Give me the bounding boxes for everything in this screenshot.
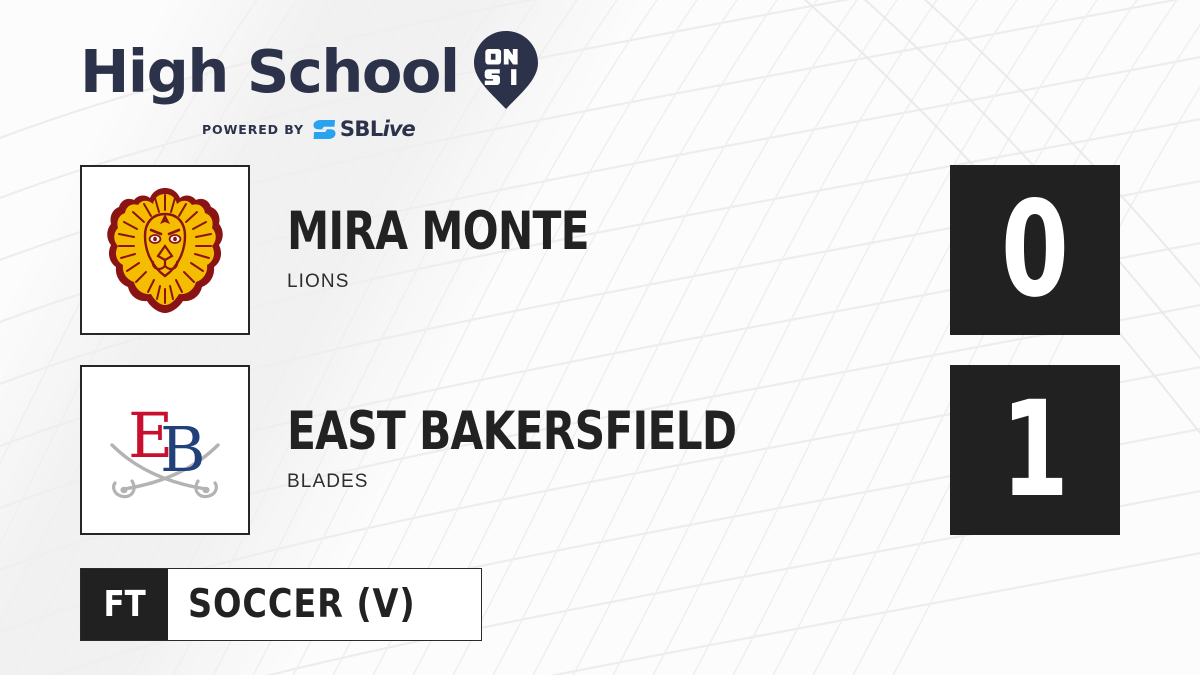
game-status-badge: FT	[81, 569, 168, 640]
team-mascot: BLADES	[287, 471, 950, 493]
sblive-wordmark: SBLive	[340, 119, 415, 140]
sport-label-container: SOCCER (V)	[168, 569, 481, 640]
score-value: 1	[1001, 384, 1069, 516]
sblive-italic-text: ive	[383, 117, 415, 141]
team-info-mira-monte: MIRA MONTE LIONS	[287, 207, 950, 292]
sblive-logo: SBLive	[313, 119, 415, 140]
game-status-code: FT	[103, 584, 145, 625]
team-row: E B EAST BAKERSFIELD BLADES 1	[80, 365, 1120, 535]
team-row: MIRA MONTE LIONS 0	[80, 165, 1120, 335]
brand-logo-row: High School	[80, 32, 510, 110]
brand-wordmark: High School	[80, 42, 459, 101]
lion-head-logo-icon	[103, 186, 227, 314]
sblive-main-text: SBL	[340, 117, 383, 141]
score-box-east-bakersfield: 1	[950, 365, 1120, 535]
team-name: MIRA MONTE	[287, 207, 817, 257]
team-logo-box-east-bakersfield: E B	[80, 365, 250, 535]
scoreboard-graphic: High School POWERED BY	[0, 0, 1200, 675]
team-info-east-bakersfield: EAST BAKERSFIELD BLADES	[287, 407, 950, 492]
score-value: 0	[1001, 184, 1069, 316]
eb-crossed-blades-logo-icon: E B	[102, 395, 228, 505]
powered-by-row: POWERED BY SBLive	[80, 119, 510, 140]
svg-text:B: B	[160, 413, 206, 486]
team-logo-box-mira-monte	[80, 165, 250, 335]
on-si-pin-icon	[473, 30, 539, 110]
sport-label: SOCCER (V)	[188, 582, 416, 627]
score-box-mira-monte: 0	[950, 165, 1120, 335]
team-name: EAST BAKERSFIELD	[287, 407, 817, 457]
game-status-bar: FT SOCCER (V)	[80, 568, 482, 641]
sblive-s-mark-icon	[313, 119, 336, 140]
map-pin-shape-icon	[473, 30, 539, 110]
brand-header: High School POWERED BY	[80, 32, 510, 140]
powered-by-label: POWERED BY	[202, 122, 304, 137]
team-mascot: LIONS	[287, 271, 950, 293]
